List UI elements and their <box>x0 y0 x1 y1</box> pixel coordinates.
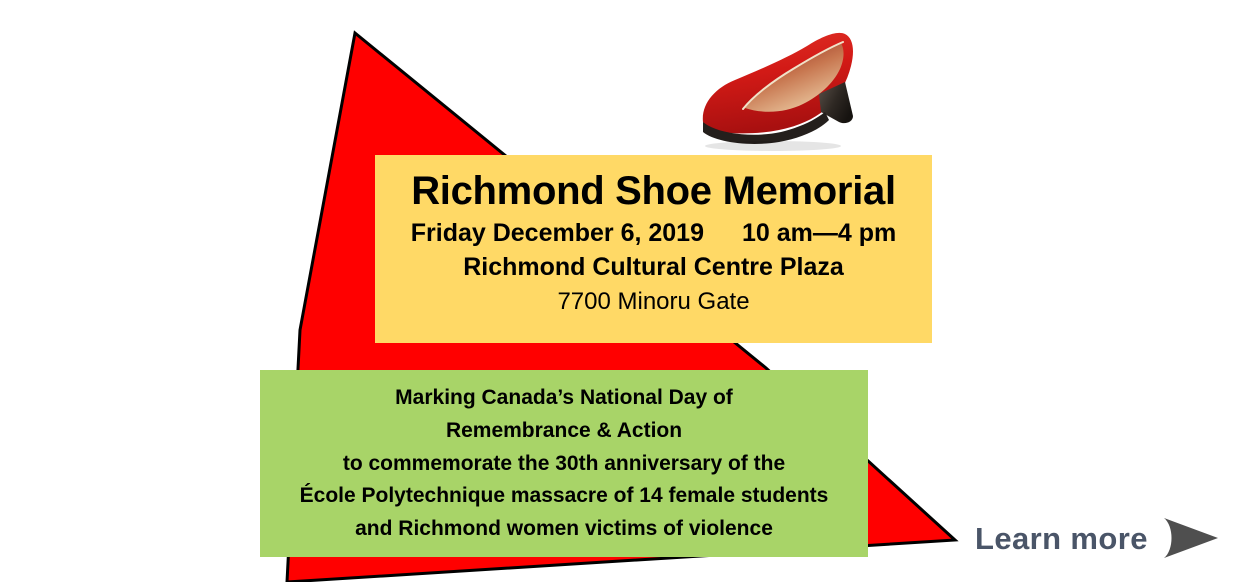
message-line-3: to commemorate the 30th anniversary of t… <box>268 448 860 481</box>
event-date: Friday December 6, 2019 <box>411 216 704 250</box>
red-high-heel-shoe-photo <box>693 22 883 157</box>
message-line-2: Remembrance & Action <box>268 415 860 448</box>
message-line-5: and Richmond women victims of violence <box>268 513 860 546</box>
commemoration-message-card: Marking Canada’s National Day of Remembr… <box>260 370 868 557</box>
message-line-1: Marking Canada’s National Day of <box>268 382 860 415</box>
event-datetime-row: Friday December 6, 2019 10 am—4 pm <box>389 216 918 250</box>
event-venue: Richmond Cultural Centre Plaza <box>389 250 918 284</box>
learn-more-label: Learn more <box>975 523 1148 554</box>
message-line-4: École Polytechnique massacre of 14 femal… <box>268 480 860 513</box>
learn-more-button[interactable]: Learn more <box>975 515 1220 561</box>
arrow-right-icon[interactable] <box>1162 515 1220 561</box>
event-details-card: Richmond Shoe Memorial Friday December 6… <box>375 155 932 343</box>
richmond-shoe-memorial-banner: Richmond Shoe Memorial Friday December 6… <box>0 0 1245 582</box>
page-title: Richmond Shoe Memorial <box>389 169 918 214</box>
shoe-shadow <box>705 141 841 151</box>
event-address: 7700 Minoru Gate <box>389 284 918 320</box>
arrow-right-path <box>1164 518 1218 558</box>
event-time: 10 am—4 pm <box>742 216 896 250</box>
